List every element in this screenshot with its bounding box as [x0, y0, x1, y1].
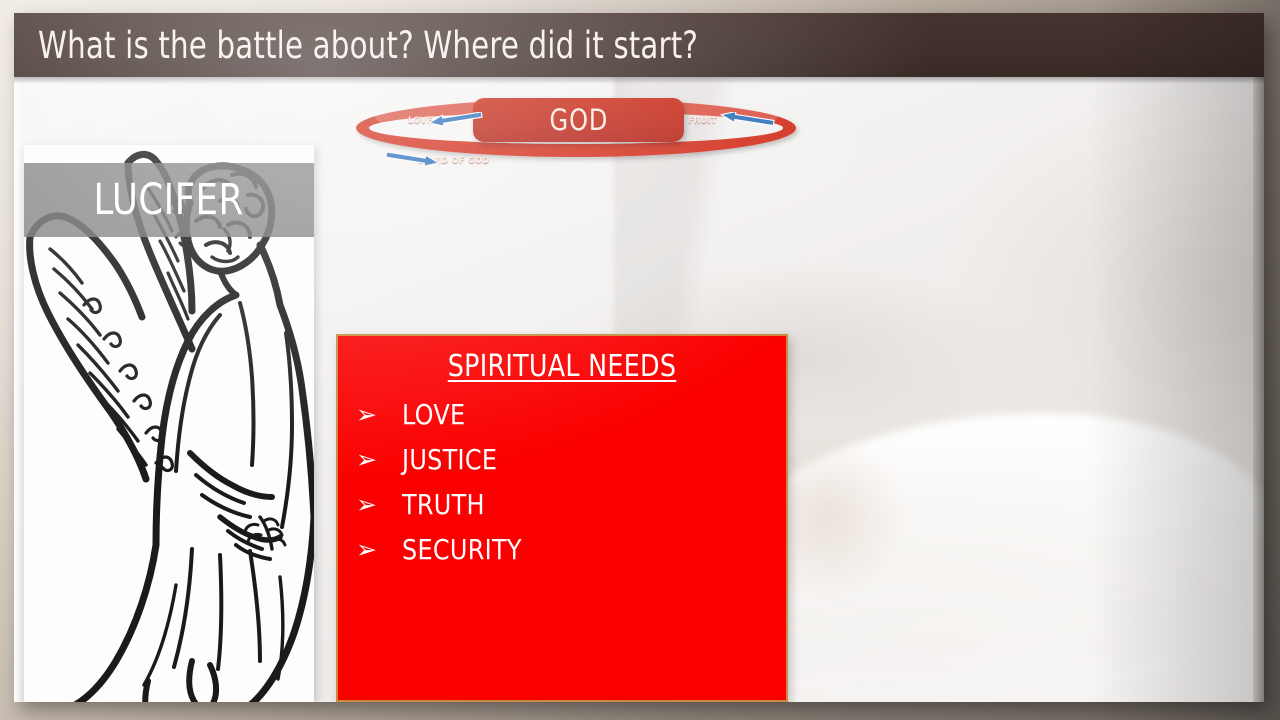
list-item: ➢ JUSTICE [356, 437, 786, 482]
lucifer-label-text: LUCIFER [94, 179, 244, 222]
page-title: What is the battle about? Where did it s… [38, 27, 698, 64]
title-bar-shadow [14, 77, 1264, 84]
list-item-label: TRUTH [402, 491, 485, 519]
arrow-bullet-icon: ➢ [356, 492, 402, 517]
arrow-bullet-icon: ➢ [356, 447, 402, 472]
arrow-bullet-icon: ➢ [356, 537, 402, 562]
arrow-right-icon-word-of-god [384, 152, 442, 160]
list-item: ➢ SECURITY [356, 527, 786, 572]
slide-stage: What is the battle about? Where did it s… [0, 0, 1280, 720]
god-label-text: GOD [549, 106, 608, 135]
spiritual-needs-panel: SPIRITUAL NEEDS ➢ LOVE ➢ JUSTICE ➢ TRUTH… [336, 334, 788, 702]
list-item: ➢ TRUTH [356, 482, 786, 527]
arrow-bullet-icon: ➢ [356, 402, 402, 427]
god-cycle-diagram: GOD LOVE FRUIT WORD OF GOD [346, 91, 806, 181]
list-item-label: LOVE [402, 401, 465, 429]
spiritual-needs-list: ➢ LOVE ➢ JUSTICE ➢ TRUTH ➢ SECURITY [338, 392, 786, 572]
list-item-label: SECURITY [402, 536, 522, 564]
presentation-slide: What is the battle about? Where did it s… [14, 13, 1264, 702]
god-label-box: GOD [473, 98, 684, 142]
spiritual-needs-title: SPIRITUAL NEEDS [351, 350, 772, 383]
background-right-edge [1253, 13, 1264, 702]
cycle-label-fruit: FRUIT [688, 117, 717, 126]
background-left-edge [14, 13, 21, 702]
arrow-left-icon-love [426, 112, 484, 120]
list-item: ➢ LOVE [356, 392, 786, 437]
lucifer-label-band: LUCIFER [24, 163, 314, 237]
list-item-label: JUSTICE [402, 446, 497, 474]
arrow-left-icon-fruit [718, 112, 776, 120]
slide-title-bar: What is the battle about? Where did it s… [14, 13, 1264, 77]
